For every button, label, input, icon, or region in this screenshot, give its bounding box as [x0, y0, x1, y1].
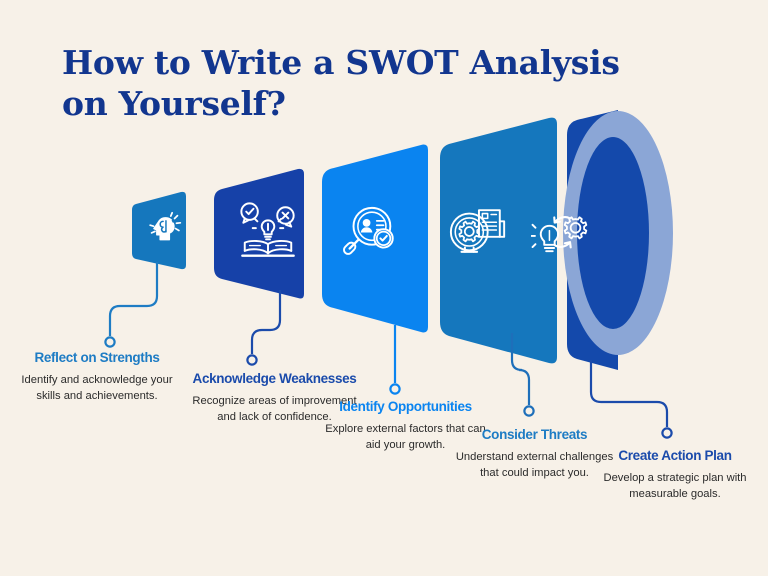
connector-dot-3 [390, 384, 399, 393]
step-title: Create Action Plan [590, 448, 760, 464]
connector-line-1 [110, 262, 157, 336]
step-body: Identify and acknowledge your skills and… [12, 373, 182, 404]
connector-dot-4 [524, 406, 533, 415]
step-caption-create-action-plan: Create Action Plan Develop a strategic p… [590, 448, 760, 502]
funnel-segment-1[interactable] [132, 192, 186, 269]
lightbulb-gear-cycle-icon [531, 206, 593, 262]
step-title: Consider Threats [452, 427, 617, 443]
connector-dot-2 [247, 355, 256, 364]
magnifier-person-check-icon [338, 203, 400, 265]
book-lightbulb-check-x-icon [237, 200, 299, 262]
funnel-segment-3[interactable] [322, 145, 428, 333]
step-caption-reflect-on-strengths: Reflect on Strengths Identify and acknow… [12, 350, 182, 404]
step-title: Reflect on Strengths [12, 350, 182, 366]
swot-infographic: How to Write a SWOT Analysis on Yourself… [0, 0, 768, 576]
page-title-line-2: on Yourself? [62, 83, 662, 124]
step-title: Identify Opportunities [318, 399, 493, 415]
step-body: Develop a strategic plan with measurable… [590, 471, 760, 502]
page-title: How to Write a SWOT Analysis on Yourself… [62, 42, 662, 124]
connector-dot-1 [105, 337, 114, 346]
connector-line-4 [512, 333, 529, 405]
connector-line-5 [591, 360, 667, 427]
connector-dot-5 [662, 428, 671, 437]
step-title: Acknowledge Weaknesses [182, 371, 367, 387]
funnel-segment-2[interactable] [214, 169, 304, 299]
page-title-line-1: How to Write a SWOT Analysis [62, 42, 662, 83]
gear-document-icon [447, 200, 509, 262]
funnel-segment-4[interactable] [440, 118, 557, 364]
megaphone-rim-outer [563, 111, 673, 355]
connector-line-2 [252, 290, 280, 354]
funnel-segment-5[interactable] [567, 110, 618, 370]
head-brain-icon [142, 207, 188, 253]
megaphone-rim-inner [577, 137, 649, 329]
